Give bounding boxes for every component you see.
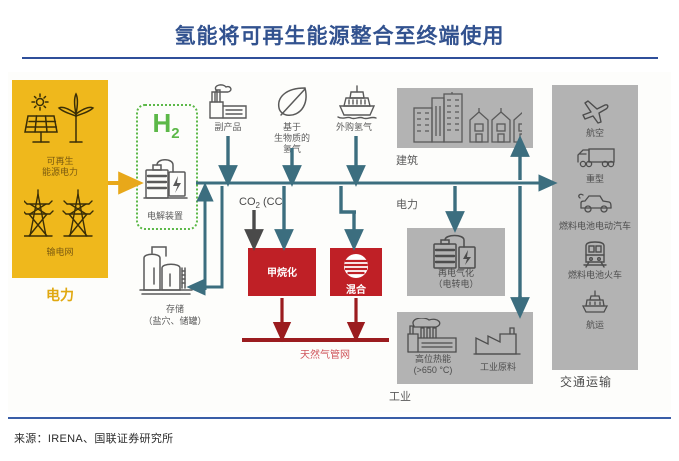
byproduct-label: 副产品 [200,122,256,133]
fcev-label: 燃料电池电动汽车 [552,219,638,232]
hydrogen-formula: H2 [140,110,192,147]
methanation-label: 甲烷化 [248,264,316,279]
shipping-label: 航运 [552,318,638,331]
buildings-icon [410,92,522,144]
imported-hydrogen-label: 外购氢气 [322,122,386,133]
transport-section-label: 交通运输 [560,373,670,390]
re-electrification-caption: 再电气化 （电转电） [407,268,505,290]
ship-icon [337,84,377,120]
source-note: 来源：IRENA、国联证券研究所 [14,430,173,446]
factory-feedstock-icon [472,326,524,356]
electrolyser-icon [142,150,190,206]
transmission-grid-label: 输电网 [12,247,108,258]
gas-pipeline-bar [242,338,389,342]
airplane-icon [580,98,610,124]
storage-caption: 存储 （盐穴、储罐） [120,303,230,327]
electricity-label: 电力 [396,196,418,212]
blending-icon [342,252,370,280]
title-divider [22,57,658,59]
storage-tank-icon [136,238,200,300]
gas-grid-label: 天然气管网 [300,346,390,361]
blending-label: 混合 [330,281,382,296]
battery-bolt-icon [430,232,484,272]
diagram-stage: 氢能将可再生能源整合至终端使用 可再生 能源电力 [0,0,679,461]
high-grade-heat-label: 高位热能 (>650 °C) [400,354,466,376]
truck-icon [576,146,616,170]
leaf-icon [275,84,311,120]
page-title: 氢能将可再生能源整合至终端使用 [0,20,679,50]
co2-capture-label: CO2 (CC) [239,196,286,210]
train-icon [582,240,608,268]
renewable-power-label: 可再生 能源电力 [12,156,108,178]
heat-plant-icon [404,318,466,354]
biomass-hydrogen-label: 基于 生物质的 氢气 [262,122,322,155]
footer-divider [8,417,671,419]
industry-label: 工业 [389,388,411,404]
shipping-icon [581,290,609,316]
industrial-feedstock-label: 工业原料 [466,360,530,373]
solar-wind-icon [24,92,96,148]
electrolyser-caption: 电解装置 [130,209,200,222]
heavy-duty-label: 重型 [552,172,638,185]
fuel-cell-train-label: 燃料电池火车 [552,268,638,281]
buildings-label: 建筑 [396,152,418,168]
car-icon [578,192,614,216]
aviation-label: 航空 [552,126,638,139]
factory-icon [207,84,249,120]
power-tower-icon [24,188,96,240]
power-section-label: 电力 [12,285,108,305]
